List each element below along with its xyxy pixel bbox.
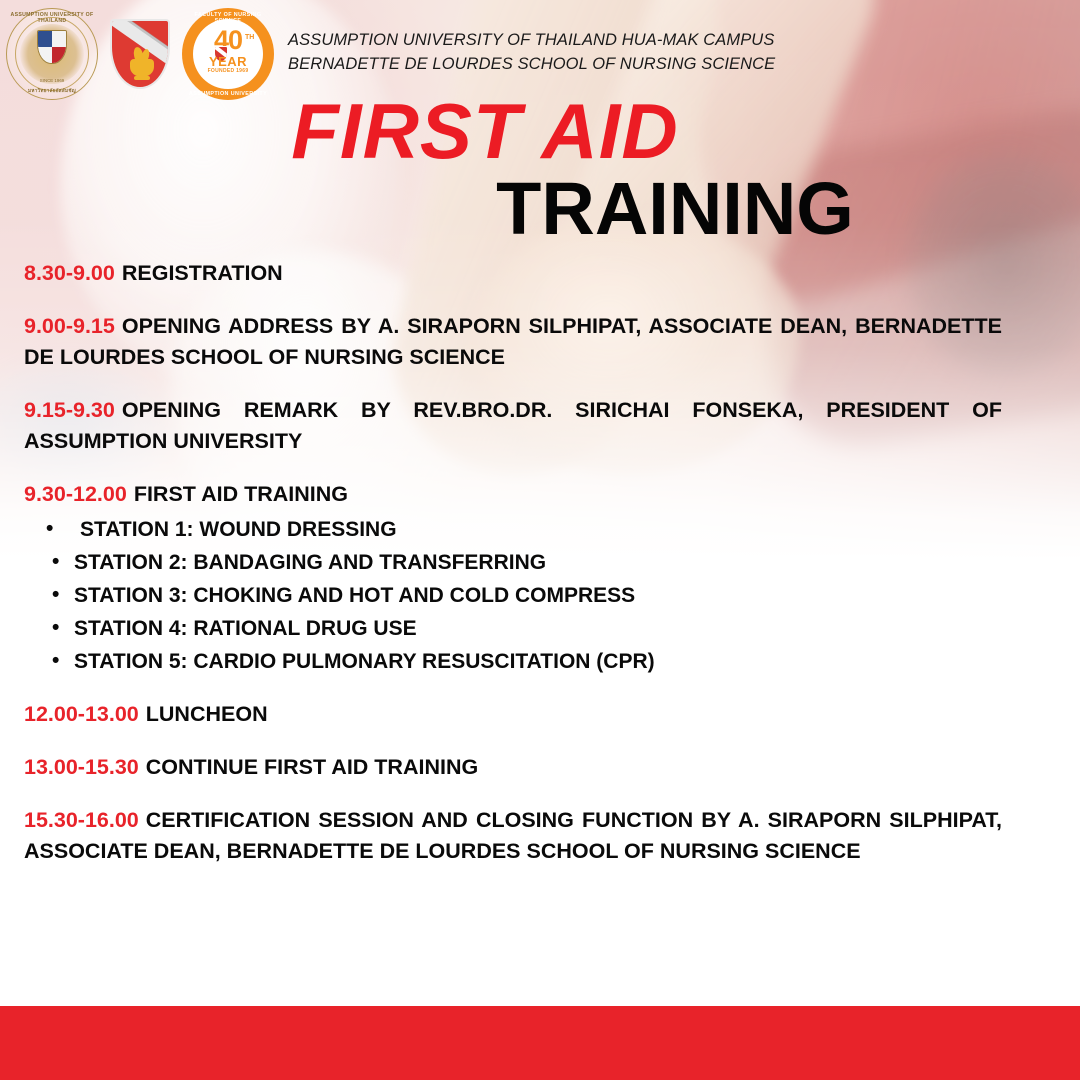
station-list: STATION 1: WOUND DRESSING STATION 2: BAN… <box>40 513 1002 679</box>
org-line-2: BERNADETTE DE LOURDES SCHOOL OF NURSING … <box>288 52 775 76</box>
list-item: STATION 2: BANDAGING AND TRANSFERRING <box>40 546 1002 579</box>
au-crest-icon <box>104 11 176 97</box>
schedule-entry-certification: 15.30-16.00CERTIFICATION SESSION AND CLO… <box>24 805 1002 868</box>
schedule-time: 8.30-9.00 <box>24 261 115 285</box>
footer-red-bar <box>0 1006 1080 1080</box>
au-seal-icon: ASSUMPTION UNIVERSITY OF THAILAND SINCE … <box>6 8 98 100</box>
poster-canvas: ASSUMPTION UNIVERSITY OF THAILAND SINCE … <box>0 0 1080 1080</box>
badge-founded-text: FOUNDED 1969 <box>182 68 274 74</box>
list-item: STATION 1: WOUND DRESSING <box>40 513 1002 546</box>
schedule-text: CERTIFICATION SESSION AND CLOSING FUNCTI… <box>24 808 1002 864</box>
schedule-list: 8.30-9.00REGISTRATION 9.00-9.15OPENING A… <box>24 258 1002 889</box>
list-item: STATION 5: CARDIO PULMONARY RESUSCITATIO… <box>40 645 1002 678</box>
schedule-entry-continue-training: 13.00-15.30CONTINUE FIRST AID TRAINING <box>24 752 1002 784</box>
schedule-entry-opening-address: 9.00-9.15OPENING ADDRESS BY A. SIRAPORN … <box>24 311 1002 374</box>
schedule-entry-first-aid-training: 9.30-12.00FIRST AID TRAINING STATION 1: … <box>24 479 1002 678</box>
crest-lamp-body <box>130 59 154 77</box>
schedule-entry-opening-remark: 9.15-9.30OPENING REMARK BY REV.BRO.DR. S… <box>24 395 1002 458</box>
schedule-text: FIRST AID TRAINING <box>134 482 348 506</box>
seal-text-top: ASSUMPTION UNIVERSITY OF THAILAND <box>6 12 98 24</box>
schedule-text: REGISTRATION <box>122 261 283 285</box>
badge-number: 40 <box>182 27 274 54</box>
schedule-time: 15.30-16.00 <box>24 808 139 832</box>
schedule-text: OPENING REMARK BY REV.BRO.DR. SIRICHAI F… <box>24 398 1002 454</box>
schedule-text: OPENING ADDRESS BY A. SIRAPORN SILPHIPAT… <box>24 314 1002 370</box>
list-item: STATION 4: RATIONAL DRUG USE <box>40 612 1002 645</box>
crest-lamp-base <box>134 76 150 80</box>
badge-arc-top-text: FACULTY OF NURSING SCIENCE <box>182 12 274 24</box>
seal-quarter-2 <box>52 31 66 47</box>
schedule-entry-registration: 8.30-9.00REGISTRATION <box>24 258 1002 290</box>
schedule-text: LUNCHEON <box>146 702 268 726</box>
schedule-time: 13.00-15.30 <box>24 755 139 779</box>
org-line-1: ASSUMPTION UNIVERSITY OF THAILAND HUA-MA… <box>288 28 775 52</box>
schedule-time: 12.00-13.00 <box>24 702 139 726</box>
forty-year-badge-icon: FACULTY OF NURSING SCIENCE 40 TH YEAR FO… <box>182 8 274 100</box>
seal-since-text: SINCE 1969 <box>6 78 98 83</box>
badge-year-label: YEAR <box>182 55 274 68</box>
crest-shield-body <box>110 19 170 89</box>
page-title-training: TRAINING <box>135 172 1080 246</box>
page-title-first-aid: FIRST AID <box>0 92 1025 170</box>
badge-ordinal: TH <box>245 34 254 41</box>
schedule-time: 9.30-12.00 <box>24 482 127 506</box>
schedule-time: 9.15-9.30 <box>24 398 115 422</box>
list-item: STATION 3: CHOKING AND HOT AND COLD COMP… <box>40 579 1002 612</box>
seal-quarter-1 <box>38 31 52 47</box>
organization-name: ASSUMPTION UNIVERSITY OF THAILAND HUA-MA… <box>274 0 775 77</box>
schedule-entry-luncheon: 12.00-13.00LUNCHEON <box>24 699 1002 731</box>
schedule-time: 9.00-9.15 <box>24 314 115 338</box>
schedule-text: CONTINUE FIRST AID TRAINING <box>146 755 478 779</box>
logo-group: ASSUMPTION UNIVERSITY OF THAILAND SINCE … <box>0 0 274 100</box>
